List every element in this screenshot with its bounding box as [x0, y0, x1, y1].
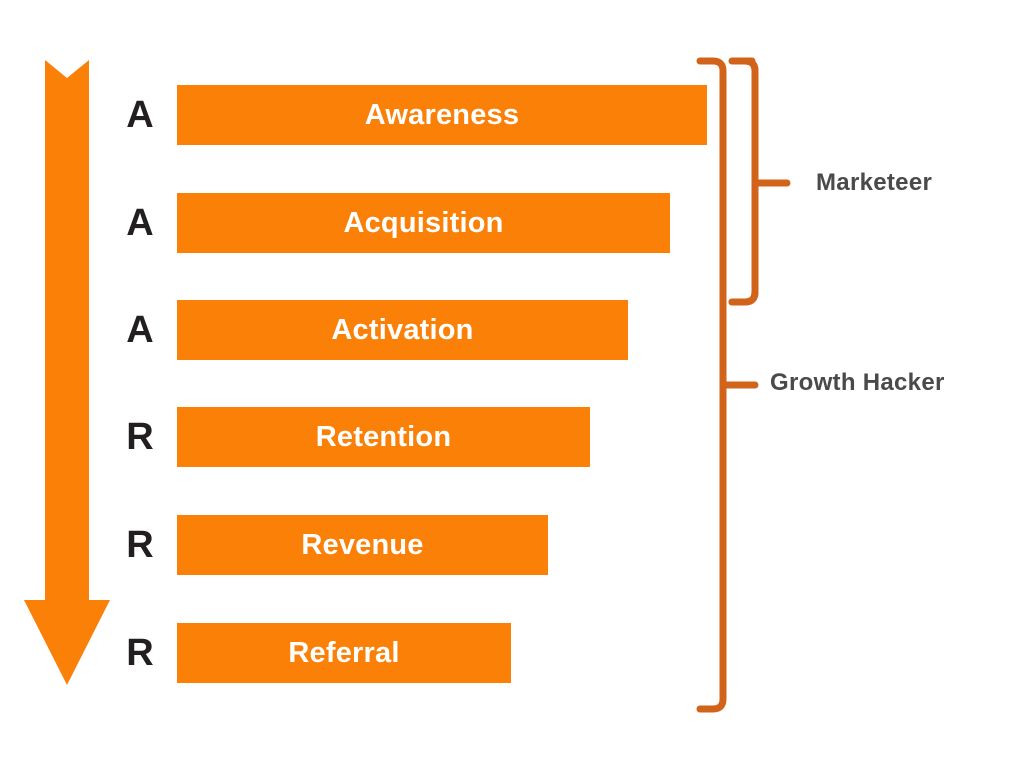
diagram-canvas: A Awareness A Acquisition A Activation R… — [0, 0, 1024, 768]
stage-bar-awareness[interactable]: Awareness — [177, 85, 707, 145]
stage-letter: R — [118, 515, 162, 575]
stage-letter: A — [118, 193, 162, 253]
stage-bar-activation[interactable]: Activation — [177, 300, 628, 360]
stage-bar-label: Activation — [331, 314, 473, 347]
stage-bar-acquisition[interactable]: Acquisition — [177, 193, 670, 253]
stage-bar-label: Awareness — [365, 99, 519, 132]
stage-bar-label: Acquisition — [343, 207, 503, 240]
stage-bar-referral[interactable]: Referral — [177, 623, 511, 683]
stage-letter: R — [118, 623, 162, 683]
stage-letter: R — [118, 407, 162, 467]
marketeer-bracket-outline — [732, 61, 755, 302]
marketeer-bracket-icon — [732, 61, 755, 302]
stage-bar-label: Revenue — [301, 529, 423, 562]
stage-letter: A — [118, 300, 162, 360]
stage-bar-retention[interactable]: Retention — [177, 407, 590, 467]
stage-letter: A — [118, 85, 162, 145]
down-arrow-icon — [24, 60, 110, 685]
stage-bar-label: Retention — [316, 421, 452, 454]
growth-hacker-bracket-icon — [700, 61, 723, 709]
stage-bar-label: Referral — [288, 637, 399, 670]
stage-bar-revenue[interactable]: Revenue — [177, 515, 548, 575]
growth-hacker-label: Growth Hacker — [770, 369, 945, 397]
marketeer-label: Marketeer — [816, 169, 932, 197]
funnel-down-arrow — [22, 60, 112, 690]
